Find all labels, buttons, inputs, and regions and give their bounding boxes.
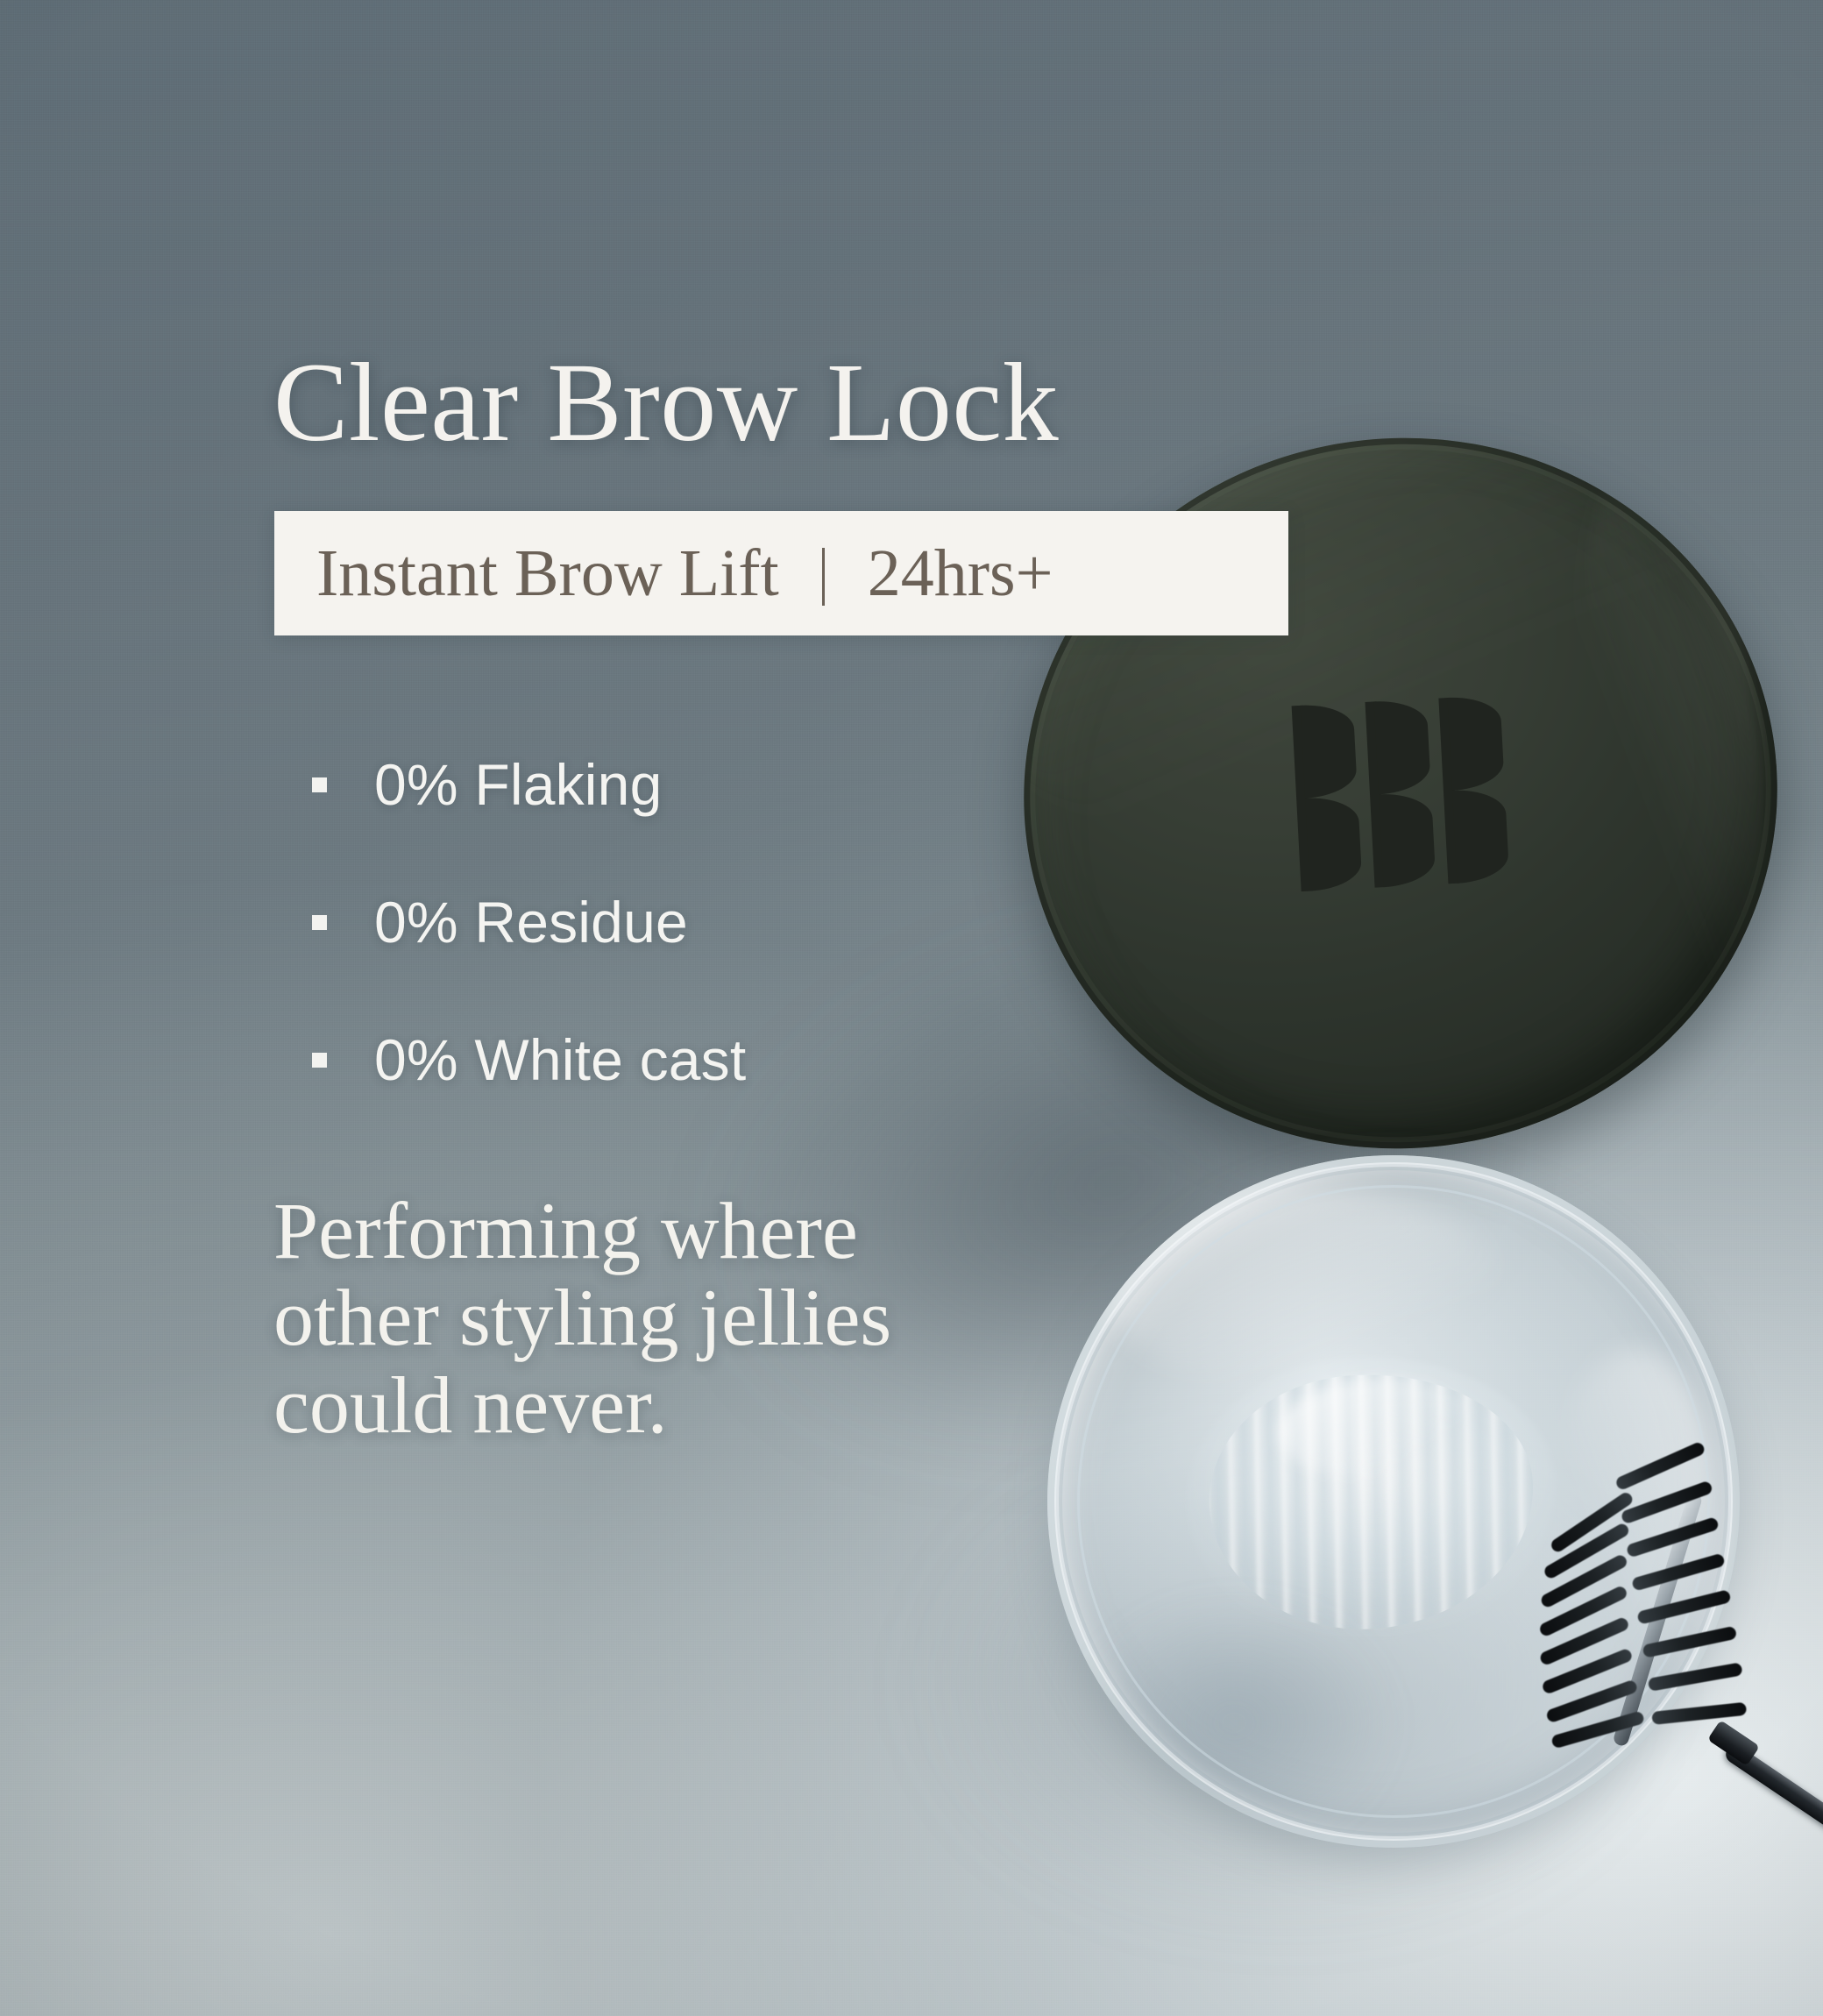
square-bullet-icon [312, 777, 327, 792]
benefit-label: 0% White cast [374, 1031, 746, 1089]
tagline: Performing where other styling jellies c… [273, 1188, 891, 1449]
tagline-line-1: Performing where [273, 1188, 891, 1274]
product-poster: Clear Brow Lock Instant Brow Lift 24hrs+… [0, 0, 1823, 2016]
subtitle-banner: Instant Brow Lift 24hrs+ [274, 511, 1288, 635]
page-title: Clear Brow Lock [273, 346, 1059, 458]
list-item: 0% Residue [312, 874, 746, 970]
benefits-list: 0% Flaking 0% Residue 0% White cast [312, 736, 746, 1149]
square-bullet-icon [312, 1053, 327, 1068]
tagline-line-3: could never. [273, 1362, 891, 1449]
list-item: 0% Flaking [312, 736, 746, 833]
benefit-label: 0% Residue [374, 893, 688, 951]
square-bullet-icon [312, 915, 327, 930]
text-layer: Clear Brow Lock Instant Brow Lift 24hrs+… [0, 0, 1823, 2016]
list-item: 0% White cast [312, 1012, 746, 1108]
subtitle-left-label: Instant Brow Lift [316, 536, 779, 610]
subtitle-right-label: 24hrs+ [868, 536, 1053, 610]
subtitle-text: Instant Brow Lift 24hrs+ [316, 540, 1053, 607]
tagline-line-2: other styling jellies [273, 1274, 891, 1361]
benefit-label: 0% Flaking [374, 756, 663, 813]
subtitle-divider-icon [822, 548, 825, 606]
